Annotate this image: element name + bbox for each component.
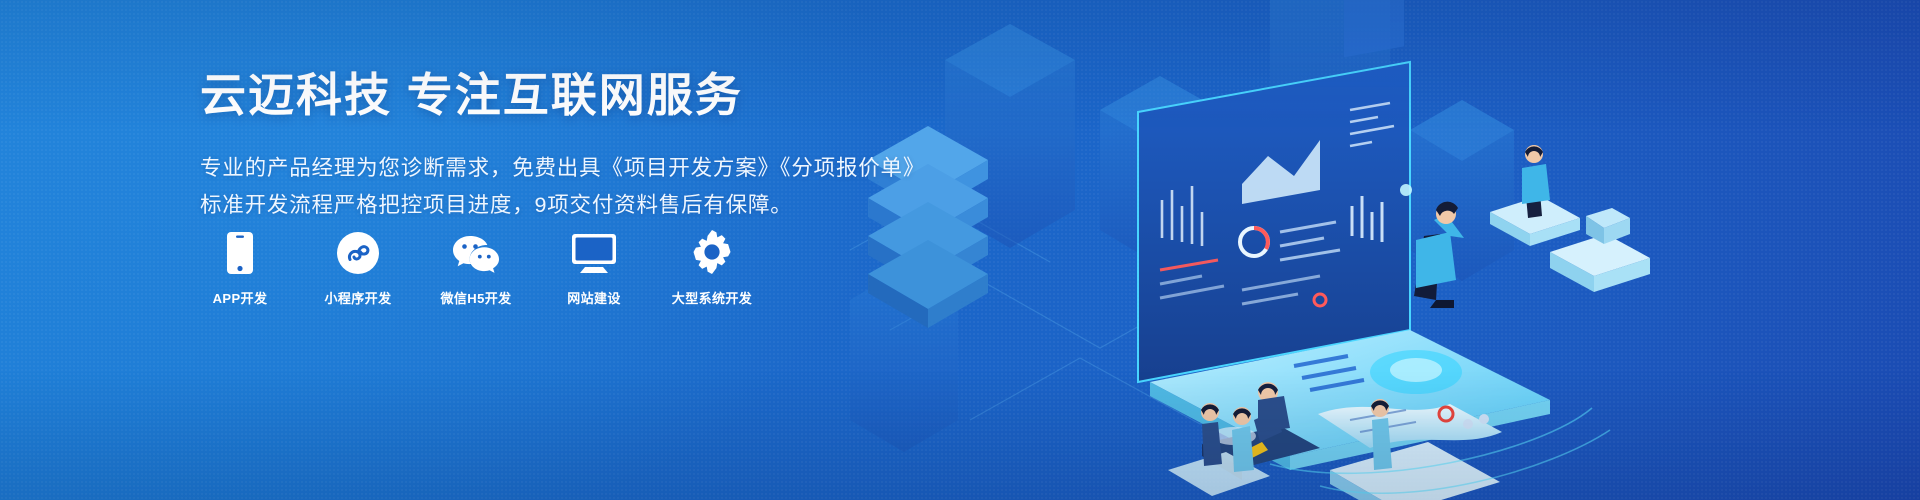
wechat-icon	[453, 228, 499, 274]
subtitle-line-1: 专业的产品经理为您诊断需求，免费出具《项目开发方案》《分项报价单》	[200, 150, 920, 187]
service-item-website[interactable]: 网站建设	[554, 228, 634, 307]
service-list: APP开发 小程序开发	[200, 228, 752, 307]
service-item-app[interactable]: APP开发	[200, 228, 280, 307]
gear-icon	[690, 228, 734, 274]
service-item-mini-program[interactable]: 小程序开发	[318, 228, 398, 307]
service-label: 网站建设	[567, 288, 621, 307]
service-label: 小程序开发	[324, 288, 391, 307]
hero-banner: 云迈科技 专注互联网服务 专业的产品经理为您诊断需求，免费出具《项目开发方案》《…	[0, 0, 1920, 500]
service-label: 微信H5开发	[440, 288, 511, 307]
isometric-illustration	[850, 0, 1920, 500]
service-label: APP开发	[213, 288, 268, 307]
service-label: 大型系统开发	[672, 288, 752, 307]
desktop-monitor-icon	[572, 228, 616, 274]
subtitle-line-2: 标准开发流程严格把控项目进度，9项交付资料售后有保障。	[200, 187, 920, 224]
hero-subtitle: 专业的产品经理为您诊断需求，免费出具《项目开发方案》《分项报价单》 标准开发流程…	[200, 150, 920, 224]
page-title: 云迈科技 专注互联网服务	[200, 68, 920, 122]
hero-copy: 云迈科技 专注互联网服务 专业的产品经理为您诊断需求，免费出具《项目开发方案》《…	[200, 68, 920, 224]
mobile-phone-icon	[227, 228, 253, 274]
service-item-wechat-h5[interactable]: 微信H5开发	[436, 228, 516, 307]
mini-program-icon	[337, 228, 379, 274]
service-item-large-system[interactable]: 大型系统开发	[672, 228, 752, 307]
